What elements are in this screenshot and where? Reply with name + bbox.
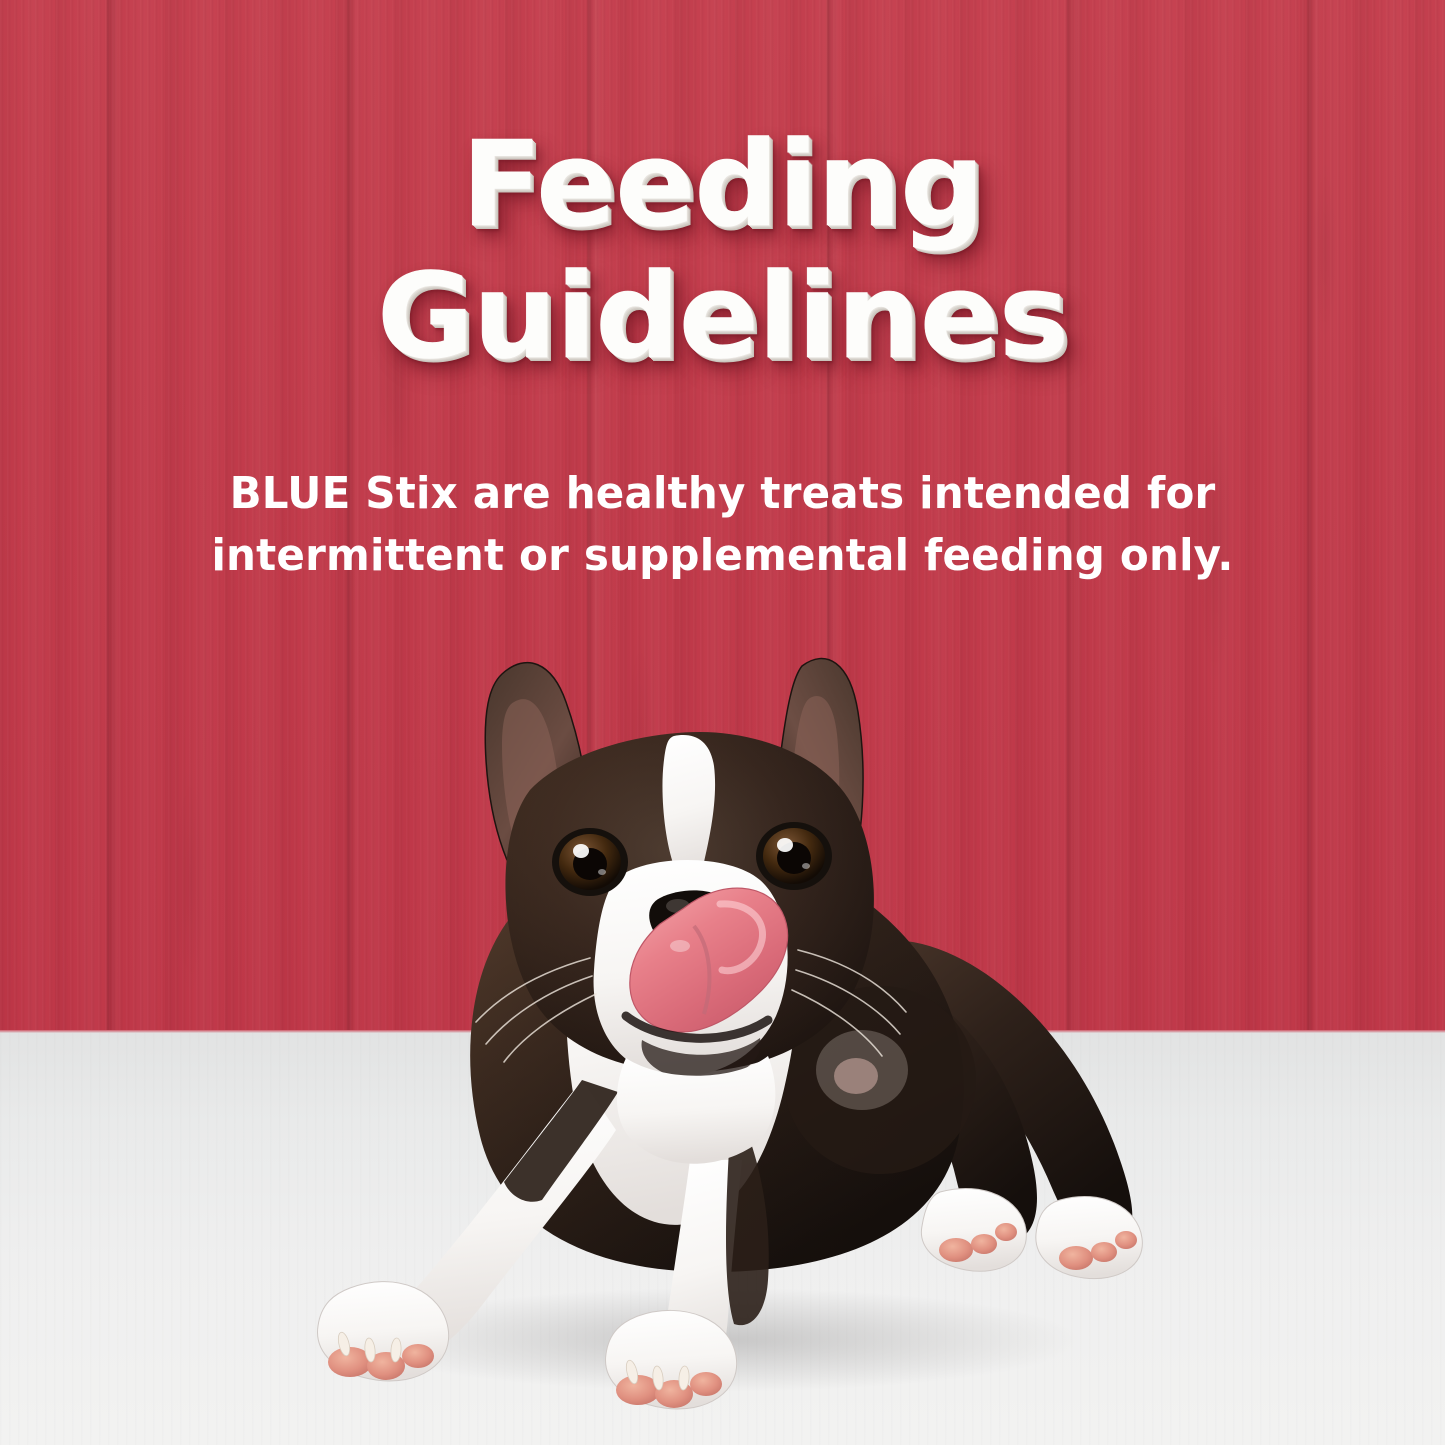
dog-eye-right [756,822,832,890]
subtitle-line-1: BLUE Stix are healthy treats intended fo… [33,463,1413,525]
subtitle: BLUE Stix are healthy treats intended fo… [0,463,1445,587]
dog-photo [290,640,1150,1420]
dog-eye-left [552,828,628,896]
feeding-guidelines-poster: Feeding Guidelines BLUE Stix are healthy… [0,0,1445,1445]
page-title-line-2: Guidelines [0,250,1445,382]
dog-tongue-gloss [670,940,690,952]
page-title-line-1: Feeding [0,118,1445,250]
dog-haunch-pad [834,1058,878,1094]
page-title: Feeding Guidelines [0,118,1445,382]
subtitle-line-2: intermittent or supplemental feeding onl… [33,525,1413,587]
